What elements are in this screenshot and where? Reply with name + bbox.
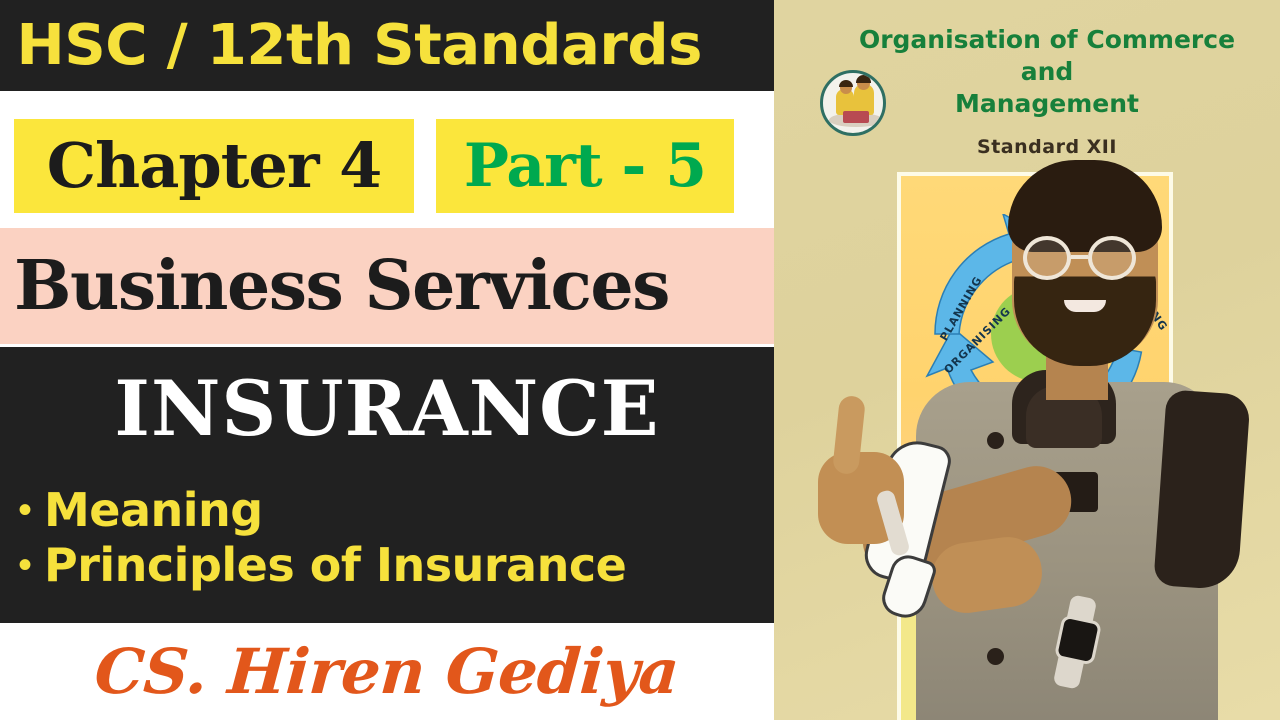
presenter-button	[987, 432, 1004, 449]
presenter-hair	[1008, 160, 1162, 252]
right-image-panel: Organisation of Commerce and Management …	[774, 0, 1280, 720]
topic-title: INSURANCE	[0, 371, 774, 447]
chapter-chip-label: Chapter 4	[47, 135, 381, 197]
presenter-button	[987, 648, 1004, 665]
header-band: HSC / 12th Standards	[0, 0, 774, 91]
topic-bullet-list: • Meaning • Principles of Insurance	[0, 482, 774, 592]
part-chip-label: Part - 5	[464, 136, 706, 196]
list-item: • Meaning	[0, 482, 774, 537]
page-title: HSC / 12th Standards	[0, 18, 702, 74]
list-item: • Principles of Insurance	[0, 537, 774, 592]
presenter-glasses-bridge	[1071, 255, 1088, 259]
presenter-photo	[774, 0, 1280, 720]
signature-band: CS. Hiren Gediya	[0, 623, 774, 720]
presenter-smile	[1064, 300, 1106, 312]
subject-label: Business Services	[0, 252, 669, 320]
presenter-signature: CS. Hiren Gediya	[93, 641, 681, 703]
left-text-panel: HSC / 12th Standards Chapter 4 Part - 5 …	[0, 0, 774, 720]
presenter-sleeve	[1153, 389, 1250, 590]
chapter-chip: Chapter 4	[14, 119, 414, 213]
chips-band: Chapter 4 Part - 5	[0, 91, 774, 228]
bullet-label-meaning: Meaning	[44, 487, 263, 533]
thumbnail-canvas: HSC / 12th Standards Chapter 4 Part - 5 …	[0, 0, 1280, 720]
bullet-dot-icon: •	[6, 490, 44, 530]
presenter-glasses-right	[1088, 236, 1136, 280]
presenter-glasses-left	[1023, 236, 1071, 280]
part-chip: Part - 5	[436, 119, 734, 213]
topic-band: INSURANCE • Meaning • Principles of Insu…	[0, 347, 774, 623]
bullet-label-principles: Principles of Insurance	[44, 542, 626, 588]
subject-band: Business Services	[0, 228, 774, 344]
bullet-dot-icon: •	[6, 545, 44, 585]
